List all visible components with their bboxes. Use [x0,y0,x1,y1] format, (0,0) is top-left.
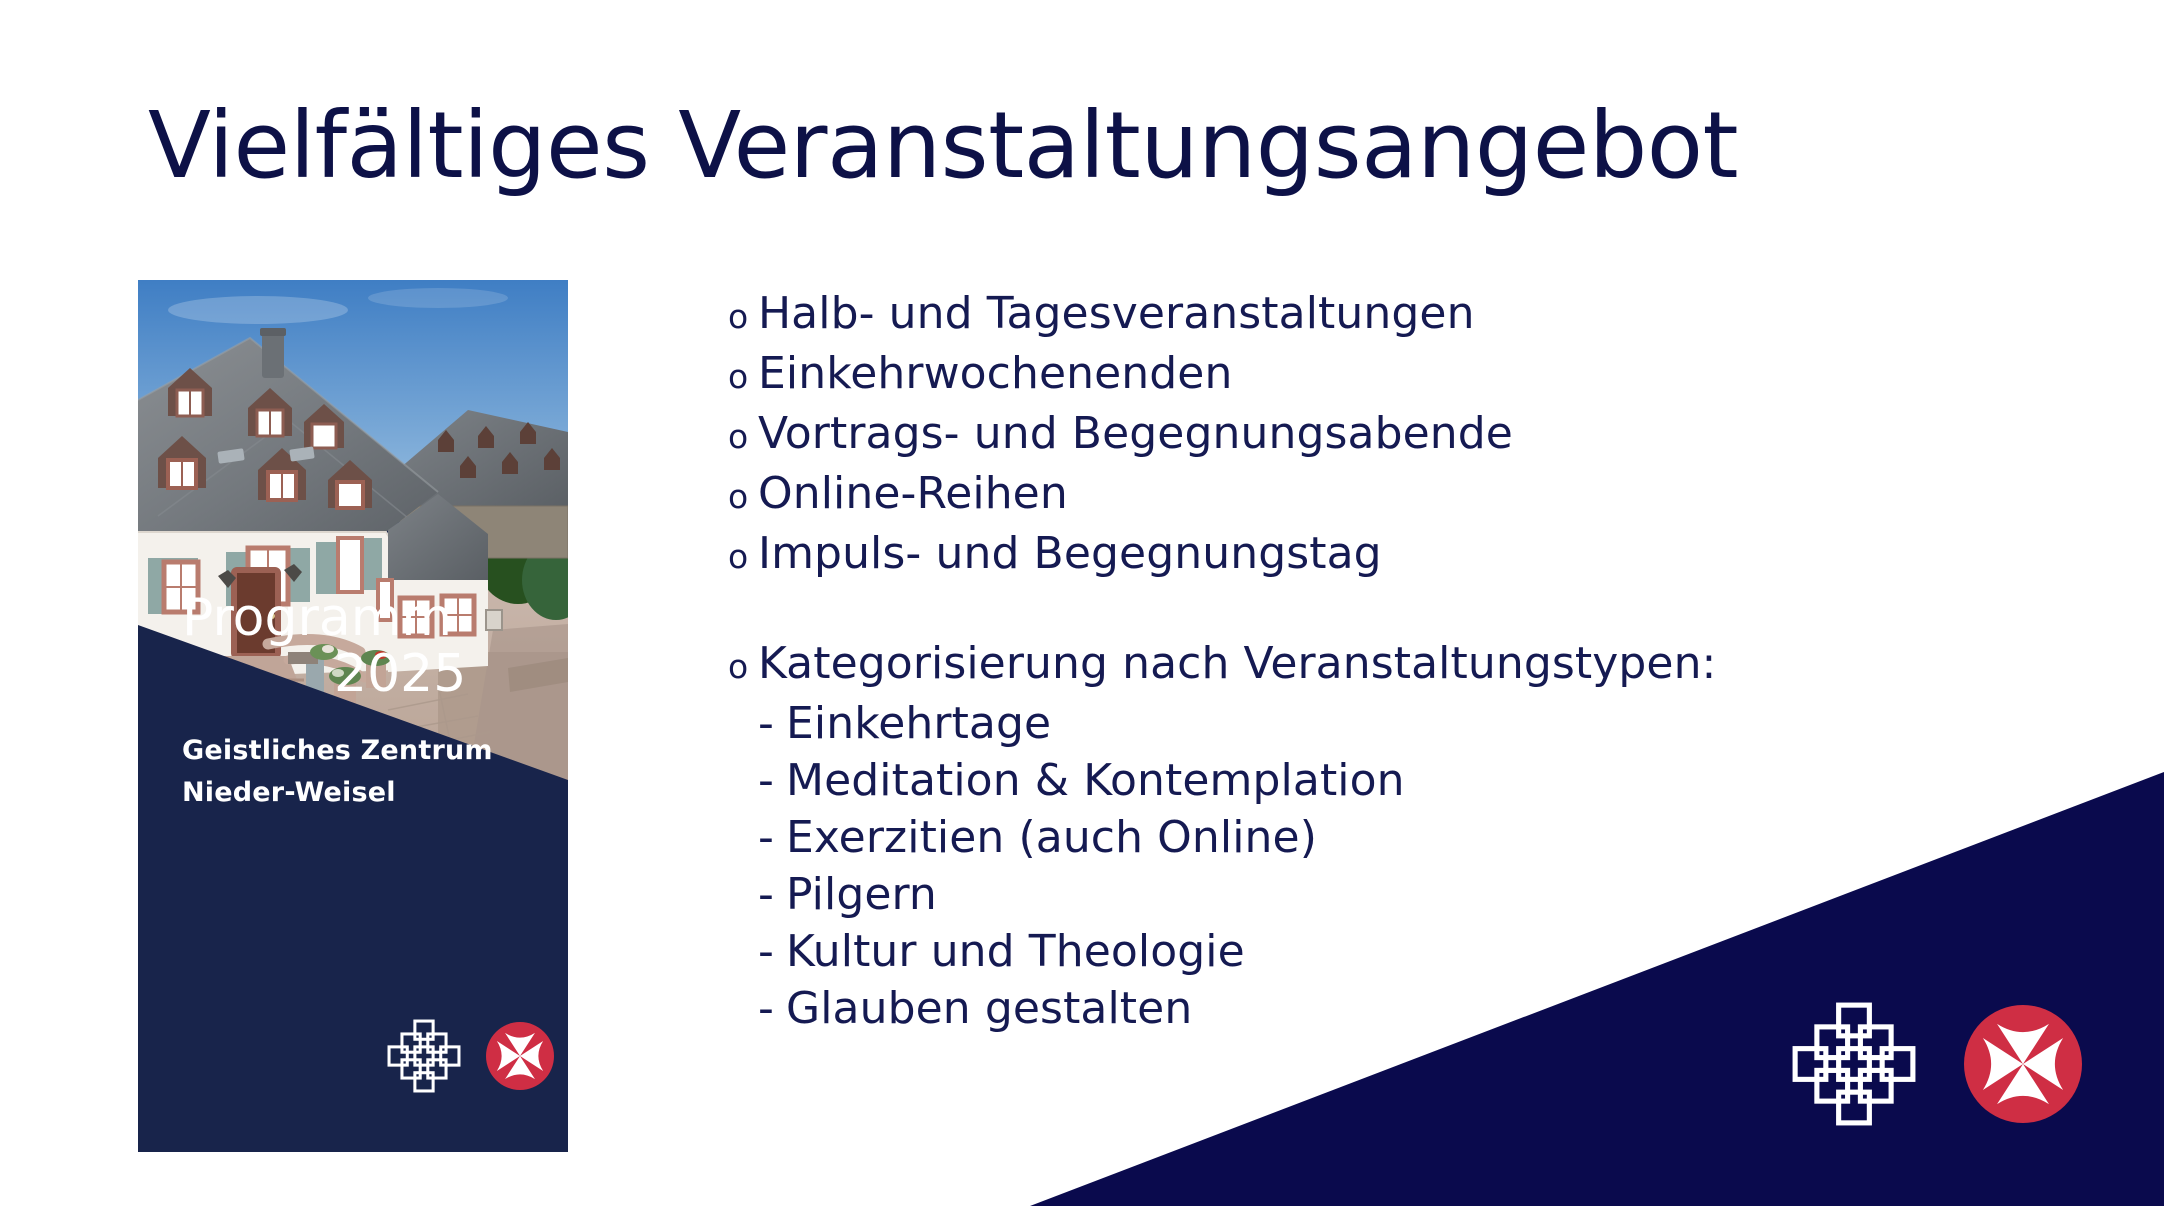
page-title: Vielfältiges Veranstaltungsangebot [148,96,2048,195]
booklet-cover-text: Programm 2025 Geistliches Zentrum Nieder… [182,592,542,814]
list-item: o Halb- und Tagesveranstaltungen [728,292,2028,336]
presentation-slide: Vielfältiges Veranstaltungsangebot [0,0,2164,1206]
sub-list-item-label: Pilgern [786,873,937,917]
sub-list-item: - Einkehrtage [758,702,2028,746]
booklet-logo-group [386,1018,554,1098]
maltese-cross-icon [1964,1005,2082,1127]
list-item-label: Online-Reihen [758,472,1068,516]
list-item-label: Vortrags- und Begegnungsabende [758,412,1513,456]
list-item-label: Impuls- und Begegnungstag [758,532,1382,576]
list-item-label: Kategorisierung nach Veranstaltungstypen… [758,642,1716,686]
sub-list-item: - Exerzitien (auch Online) [758,816,2028,860]
list-item-label: Halb- und Tagesveranstaltungen [758,292,1475,336]
programme-booklet-cover: Programm 2025 Geistliches Zentrum Nieder… [138,280,568,1152]
dash-marker-icon: - [758,702,786,746]
maltese-cross-icon [486,1022,554,1094]
sub-list-item-label: Exerzitien (auch Online) [786,816,1317,860]
dash-marker-icon: - [758,873,786,917]
booklet-programm-label: Programm [182,592,542,644]
list-item-label: Einkehrwochenenden [758,352,1232,396]
booklet-year: 2025 [182,648,542,700]
bullet-marker-icon: o [728,420,758,453]
list-item: o Online-Reihen [728,472,2028,516]
dash-marker-icon: - [758,987,786,1031]
bullet-marker-icon: o [728,650,758,683]
sub-list-item: - Meditation & Kontemplation [758,759,2028,803]
booklet-org-line-1: Geistliches Zentrum [182,730,542,772]
sub-list-item: - Kultur und Theologie [758,930,2028,974]
list-group-spacer [728,592,2028,642]
list-item: o Einkehrwochenenden [728,352,2028,396]
dash-marker-icon: - [758,930,786,974]
johanniter-square-cross-icon [386,1018,462,1098]
sub-list-item-label: Kultur und Theologie [786,930,1245,974]
booklet-organisation: Geistliches Zentrum Nieder-Weisel [182,730,542,814]
bullet-marker-icon: o [728,480,758,513]
bullet-marker-icon: o [728,540,758,573]
bullet-marker-icon: o [728,360,758,393]
booklet-org-line-2: Nieder-Weisel [182,772,542,814]
dash-marker-icon: - [758,759,786,803]
sub-list-item-label: Glauben gestalten [786,987,1192,1031]
sub-list-item: - Pilgern [758,873,2028,917]
sub-list-item-label: Meditation & Kontemplation [786,759,1405,803]
sub-list-item-label: Einkehrtage [786,702,1051,746]
dash-marker-icon: - [758,816,786,860]
bullet-marker-icon: o [728,300,758,333]
johanniter-square-cross-icon [1790,1000,1918,1132]
list-item: o Vortrags- und Begegnungsabende [728,412,2028,456]
list-item-categorisation: o Kategorisierung nach Veranstaltungstyp… [728,642,2028,686]
content-list: o Halb- und Tagesveranstaltungen o Einke… [728,292,2028,1044]
corner-logo-group [1790,1000,2082,1132]
list-item: o Impuls- und Begegnungstag [728,532,2028,576]
